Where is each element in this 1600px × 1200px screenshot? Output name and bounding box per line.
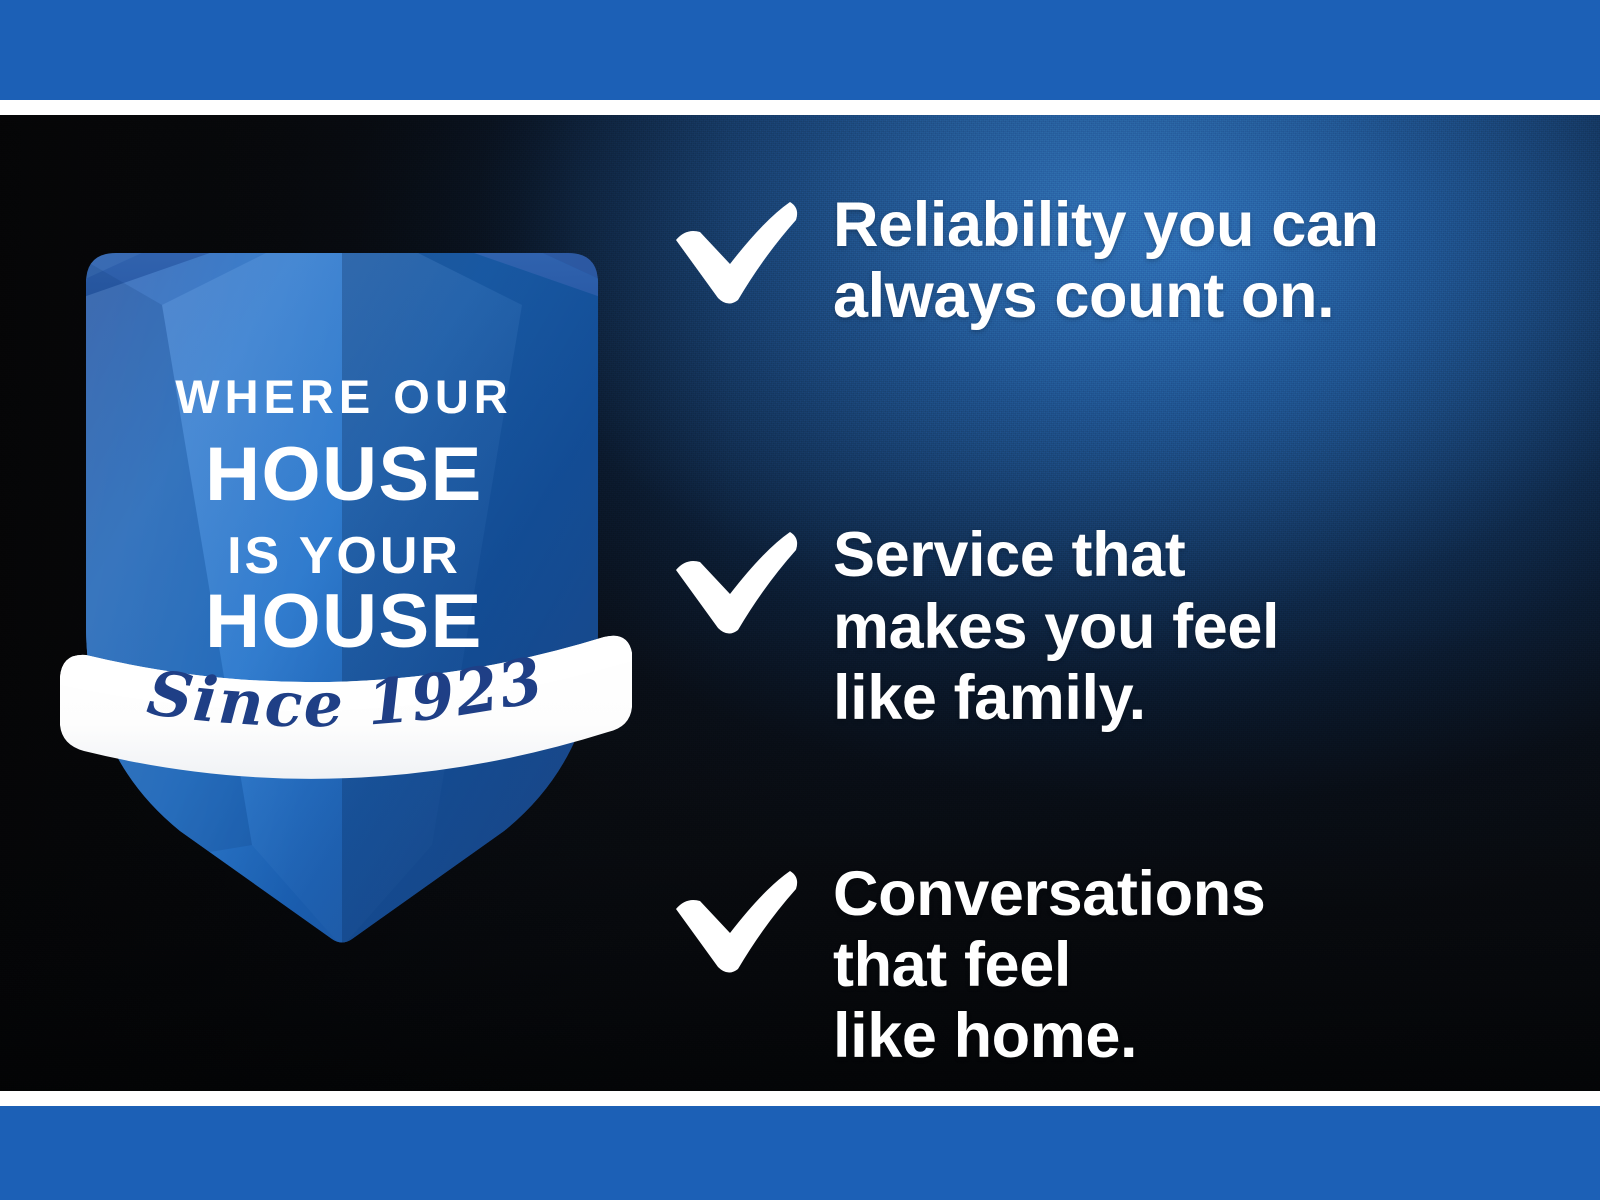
benefit-item-conversations: Conversations that feel like home. <box>666 859 1486 1073</box>
promo-graphic: WHERE OUR HOUSE IS YOUR HOUSE Since 1923… <box>0 0 1600 1200</box>
benefit-item-service: Service that makes you feel like family. <box>666 520 1486 734</box>
emblem-line-house-1: HOUSE <box>205 432 483 517</box>
check-icon <box>672 867 802 977</box>
emblem-line-house-2: HOUSE <box>205 579 483 664</box>
benefits-list: Reliability you can always count on. Ser… <box>666 190 1486 1073</box>
benefit-item-reliability: Reliability you can always count on. <box>666 190 1486 332</box>
brand-rule-top <box>0 100 1600 115</box>
check-icon <box>672 198 802 308</box>
emblem-line-is-your: IS YOUR <box>227 527 461 585</box>
brand-bar-bottom <box>0 1106 1600 1200</box>
check-icon <box>672 528 802 638</box>
brand-rule-bottom <box>0 1091 1600 1106</box>
shield-emblem: WHERE OUR HOUSE IS YOUR HOUSE Since 1923 <box>52 155 632 955</box>
brand-bar-top <box>0 0 1600 100</box>
emblem-line-where-our: WHERE OUR <box>175 370 512 423</box>
